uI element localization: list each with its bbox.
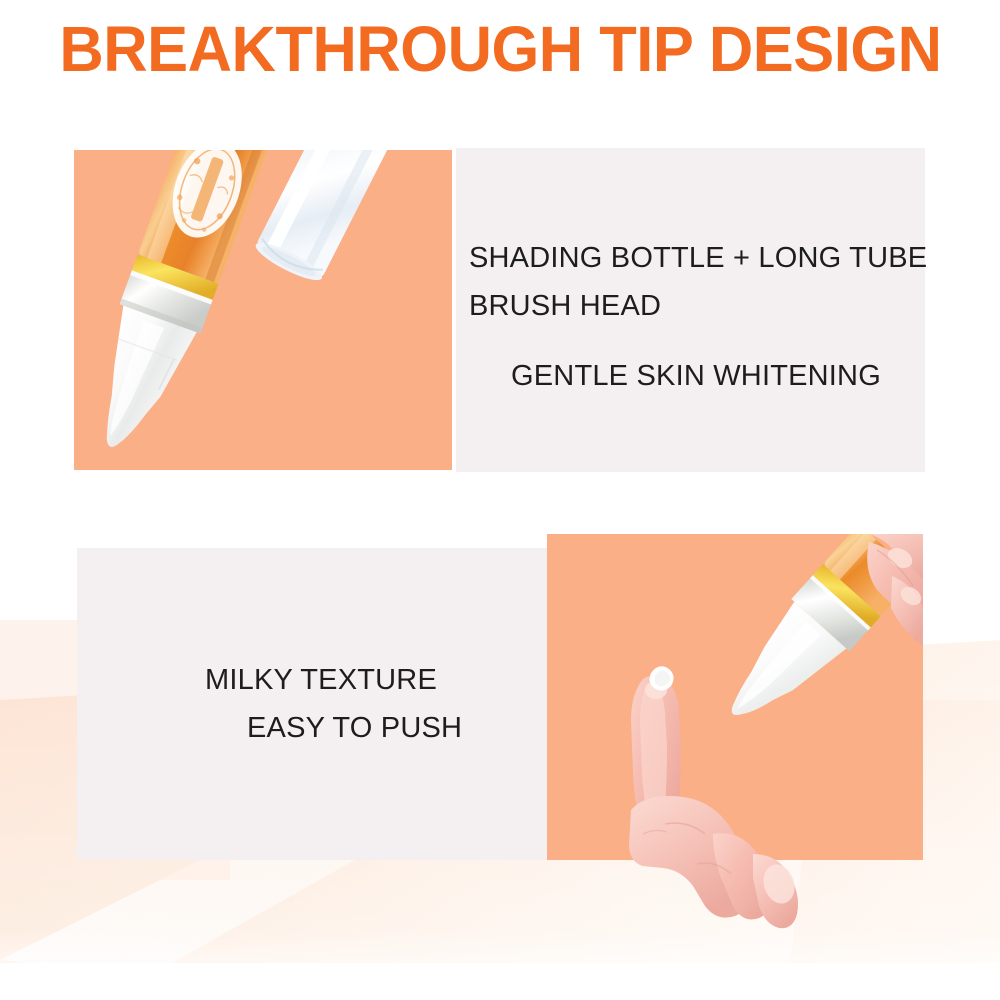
feature-text-top: SHADING BOTTLE + LONG TUBE BRUSH HEAD GE… bbox=[469, 234, 927, 400]
hand-and-pen-illustration bbox=[547, 534, 923, 934]
feature-line: BRUSH HEAD bbox=[469, 282, 927, 330]
feature-text-bottom: MILKY TEXTURE EASY TO PUSH bbox=[205, 656, 462, 752]
feature-text-panel-bottom: MILKY TEXTURE EASY TO PUSH bbox=[77, 548, 547, 860]
product-feature-poster: BREAKTHROUGH TIP DESIGN SHADING BOTTLE +… bbox=[0, 0, 1000, 1000]
page-title-text: BREAKTHROUGH TIP DESIGN bbox=[59, 14, 941, 84]
photo-frame bbox=[74, 150, 452, 470]
hand-dispensing-cream-on-fingertip-photo bbox=[547, 534, 923, 860]
product-applicator-pen-with-cap-photo bbox=[74, 150, 452, 470]
feature-line: GENTLE SKIN WHITENING bbox=[469, 352, 927, 400]
line-spacer bbox=[469, 330, 927, 352]
feature-line: MILKY TEXTURE bbox=[205, 656, 462, 704]
page-title: BREAKTHROUGH TIP DESIGN bbox=[0, 14, 1000, 84]
feature-line: EASY TO PUSH bbox=[205, 704, 462, 752]
pen-and-cap-illustration bbox=[74, 150, 452, 470]
feature-text-panel-top: SHADING BOTTLE + LONG TUBE BRUSH HEAD GE… bbox=[456, 148, 925, 472]
feature-line: SHADING BOTTLE + LONG TUBE bbox=[469, 234, 927, 282]
